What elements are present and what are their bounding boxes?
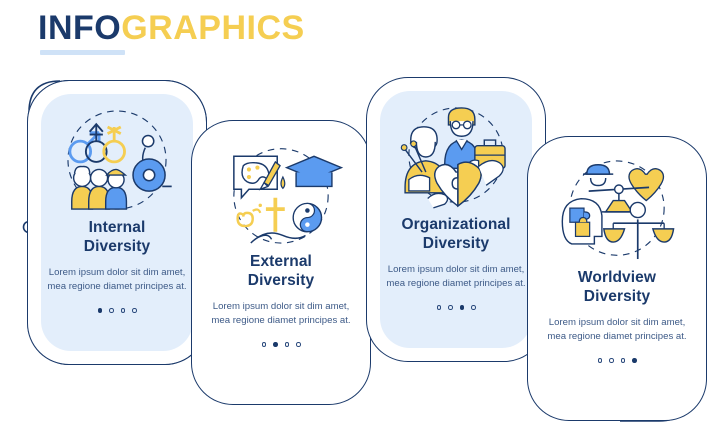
card-1-dot-1[interactable] xyxy=(98,308,103,313)
card-1[interactable]: Internal Diversity Lorem ipsum dolor sit… xyxy=(41,94,193,351)
card-3-dot-2[interactable] xyxy=(448,305,453,310)
card-1-title-line1: Internal xyxy=(89,219,146,236)
card-2-title: External Diversity xyxy=(248,252,314,290)
card-1-dot-3[interactable] xyxy=(121,308,126,313)
card-2-dot-1[interactable] xyxy=(262,342,267,347)
card-4-dot-1[interactable] xyxy=(598,358,603,363)
card-4-title-line2: Diversity xyxy=(584,288,650,305)
coworkers-puzzle-heart-icon xyxy=(390,99,522,215)
scales-heart-puzzle-head-icon xyxy=(551,152,683,268)
card-1-title: Internal Diversity xyxy=(84,218,150,256)
card-1-dots[interactable] xyxy=(98,308,137,313)
card-3-title-line1: Organizational xyxy=(401,216,510,233)
card-3-dots[interactable] xyxy=(437,305,476,310)
card-2-title-line1: External xyxy=(250,253,312,270)
title-part-info: INFO xyxy=(38,9,121,47)
card-2-description: Lorem ipsum dolor sit dim amet, mea regi… xyxy=(211,300,351,328)
card-2[interactable]: External Diversity Lorem ipsum dolor sit… xyxy=(191,126,371,399)
palette-graduation-religion-icon xyxy=(215,136,347,252)
card-4-title-line1: Worldview xyxy=(578,269,656,286)
infographic-canvas: INFOGRAPHICS xyxy=(0,0,720,438)
card-1-description: Lorem ipsum dolor sit dim amet, mea regi… xyxy=(47,266,187,294)
card-4-dots[interactable] xyxy=(598,358,637,363)
card-3-title-line2: Diversity xyxy=(423,235,489,252)
title-part-graphics: GRAPHICS xyxy=(121,9,304,47)
card-1-dot-4[interactable] xyxy=(132,308,137,313)
card-2-dot-3[interactable] xyxy=(285,342,290,347)
card-4-dot-2[interactable] xyxy=(609,358,614,363)
card-3[interactable]: Organizational Diversity Lorem ipsum dol… xyxy=(380,91,532,348)
card-4[interactable]: Worldview Diversity Lorem ipsum dolor si… xyxy=(527,142,707,415)
card-2-dot-4[interactable] xyxy=(296,342,301,347)
card-3-dot-3[interactable] xyxy=(460,305,465,310)
card-2-dot-2[interactable] xyxy=(273,342,278,347)
card-4-description: Lorem ipsum dolor sit dim amet, mea regi… xyxy=(547,316,687,344)
card-3-title: Organizational Diversity xyxy=(401,215,510,253)
page-title: INFOGRAPHICS xyxy=(38,8,438,60)
card-4-dot-3[interactable] xyxy=(621,358,626,363)
card-3-dot-1[interactable] xyxy=(437,305,442,310)
card-4-dot-4[interactable] xyxy=(632,358,637,363)
gender-symbols-people-wheelchair-icon xyxy=(51,102,183,218)
card-1-title-line2: Diversity xyxy=(84,238,150,255)
card-3-description: Lorem ipsum dolor sit dim amet, mea regi… xyxy=(386,263,526,291)
card-1-dot-2[interactable] xyxy=(109,308,114,313)
card-3-dot-4[interactable] xyxy=(471,305,476,310)
card-2-title-line2: Diversity xyxy=(248,272,314,289)
title-underline xyxy=(40,50,125,55)
card-4-title: Worldview Diversity xyxy=(578,268,656,306)
card-2-dots[interactable] xyxy=(262,342,301,347)
